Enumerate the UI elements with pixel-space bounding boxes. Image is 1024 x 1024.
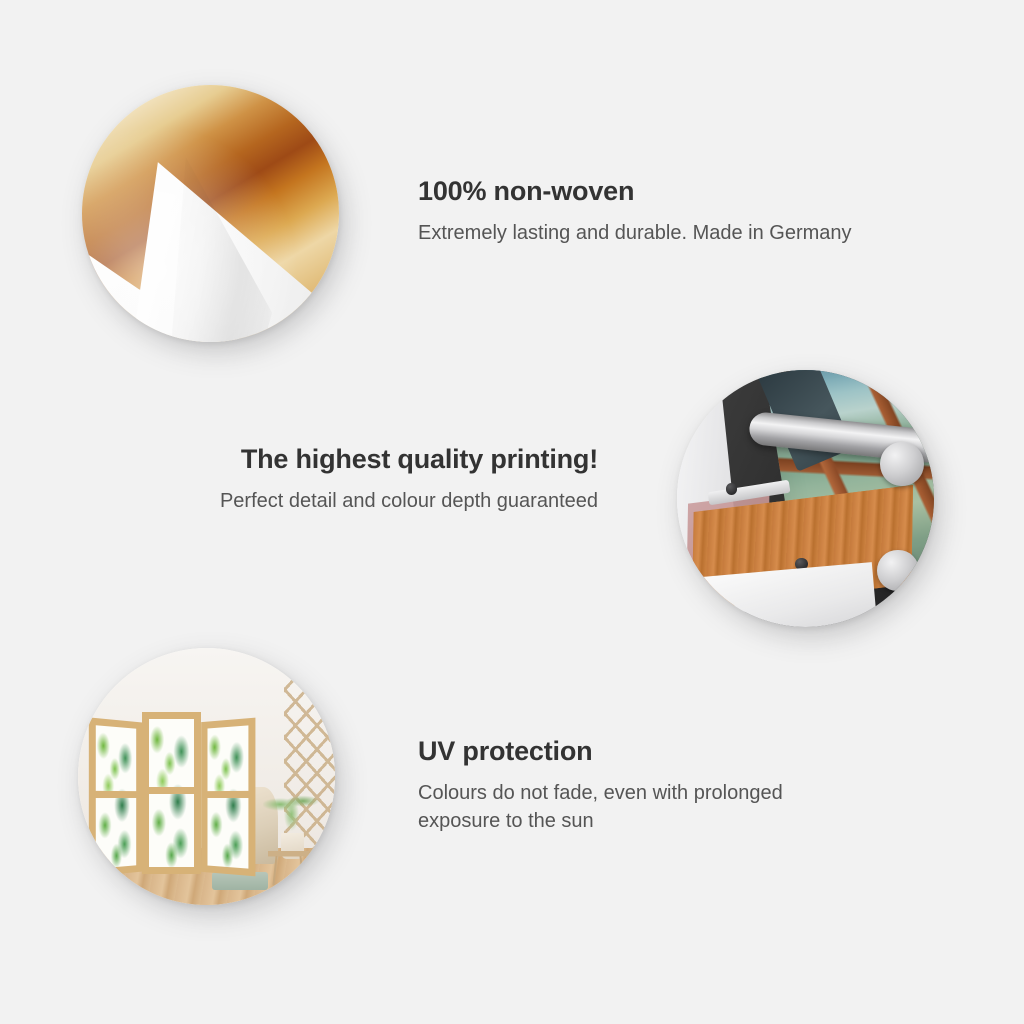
panel-rail-center [149, 787, 194, 794]
feature-highlights-page: 100% non-woven Extremely lasting and dur… [0, 0, 1024, 1024]
wallpaper-scene [82, 85, 339, 342]
feature-description-uv-protection: Colours do not fade, even with prolonged… [418, 779, 818, 836]
feature-title-uv-protection: UV protection [418, 736, 818, 767]
potted-palm-leaves [263, 782, 320, 839]
panel-rail-left [96, 791, 136, 798]
room-divider-scene [78, 648, 335, 905]
feature-text-quality-printing: The highest quality printing! Perfect de… [198, 444, 598, 515]
feature-text-non-woven: 100% non-woven Extremely lasting and dur… [418, 176, 858, 247]
panel-rail-right [207, 791, 247, 798]
divider-panel-right [201, 718, 255, 877]
printing-press-image [677, 370, 934, 627]
wallpaper-sheen [82, 85, 339, 342]
feature-title-non-woven: 100% non-woven [418, 176, 858, 207]
divider-panel-left [89, 717, 142, 876]
printing-press-scene [677, 370, 934, 627]
roller-end-cap-lower [877, 550, 918, 591]
press-screw-two [726, 483, 738, 495]
feature-title-quality-printing: The highest quality printing! [198, 444, 598, 475]
room-divider-image [78, 648, 335, 905]
feature-description-quality-printing: Perfect detail and colour depth guarante… [198, 487, 598, 515]
feature-text-uv-protection: UV protection Colours do not fade, even … [418, 736, 818, 836]
roller-end-cap-right [880, 442, 924, 486]
peeling-wallpaper-image [82, 85, 339, 342]
feature-description-non-woven: Extremely lasting and durable. Made in G… [418, 219, 858, 247]
divider-panel-center [142, 712, 201, 874]
side-table [268, 851, 309, 884]
